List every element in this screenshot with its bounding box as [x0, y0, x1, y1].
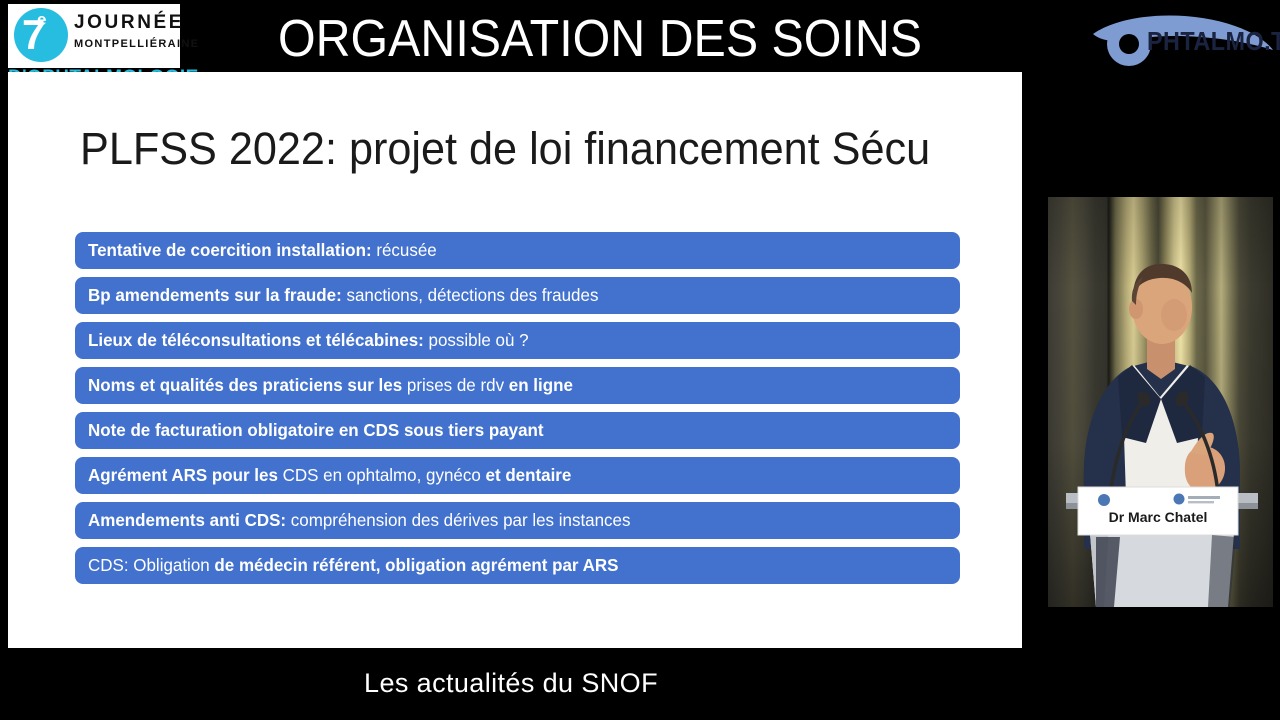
slide-bullet-segment: Amendements anti CDS: — [88, 510, 286, 530]
slide-bullet-bar: Bp amendements sur la fraude: sanctions,… — [75, 277, 960, 314]
header-title: ORGANISATION DES SOINS — [275, 8, 926, 70]
speaker-figure: Dr Marc Chatel — [1048, 197, 1273, 607]
slide-bullet-bar: Agrément ARS pour les CDS en ophtalmo, g… — [75, 457, 960, 494]
presentation-slide: PLFSS 2022: projet de loi financement Sé… — [8, 72, 1022, 648]
slide-bullet-text: CDS: Obligation de médecin référent, obl… — [88, 557, 618, 575]
slide-bullet-segment: en ligne — [509, 375, 573, 395]
slide-bullet-segment: Agrément ARS pour les — [88, 465, 278, 485]
speaker-video-panel[interactable]: Dr Marc Chatel — [1048, 197, 1273, 607]
slide-bullet-text: Lieux de téléconsultations et télécabine… — [88, 332, 529, 350]
slide-bullet-bar: Tentative de coercition installation: ré… — [75, 232, 960, 269]
slide-bullet-text: Bp amendements sur la fraude: sanctions,… — [88, 287, 598, 305]
slide-bullet-segment: CDS: Obligation — [88, 555, 214, 575]
ophtalmo-tv-logo: PHTALMO.TV — [1085, 8, 1275, 70]
slide-bullet-segment: Lieux de téléconsultations et télécabine… — [88, 330, 424, 350]
slide-bullet-segment: récusée — [372, 240, 437, 260]
slide-bullet-text: Agrément ARS pour les CDS en ophtalmo, g… — [88, 467, 571, 485]
slide-bullet-segment: prises de rdv — [402, 375, 509, 395]
speaker-nameplate: Dr Marc Chatel — [1109, 509, 1208, 525]
slide-bullet-segment: possible où ? — [424, 330, 529, 350]
bottom-caption: Les actualités du SNOF — [0, 660, 1022, 706]
slide-bullet-text: Note de facturation obligatoire en CDS s… — [88, 422, 544, 440]
logo-line-journee: JOURNÉE — [74, 13, 184, 32]
logo-ordinal-suffix: e — [37, 11, 46, 28]
slide-bullet-segment: Noms et qualités des praticiens sur les — [88, 375, 402, 395]
slide-bullet-bar: CDS: Obligation de médecin référent, obl… — [75, 547, 960, 584]
slide-bullet-text: Noms et qualités des praticiens sur les … — [88, 377, 573, 395]
slide-bullet-segment: CDS en ophtalmo, gynéco — [278, 465, 486, 485]
slide-bullet-segment: de médecin référent, obligation agrément… — [214, 555, 618, 575]
slide-bullet-segment: Tentative de coercition installation: — [88, 240, 372, 260]
slide-bullet-segment: Bp amendements sur la fraude: — [88, 285, 342, 305]
slide-bullet-bar: Note de facturation obligatoire en CDS s… — [75, 412, 960, 449]
slide-bullet-segment: Note de facturation obligatoire en CDS s… — [88, 420, 544, 440]
logo-line-montpellieraine: MONTPELLIÉRAINE — [74, 39, 199, 50]
video-player-stage: 7 e JOURNÉE MONTPELLIÉRAINE D'OPHTALMOLO… — [0, 0, 1280, 720]
slide-bullet-segment: sanctions, détections des fraudes — [342, 285, 599, 305]
slide-bullet-bar: Lieux de téléconsultations et télécabine… — [75, 322, 960, 359]
slide-bullet-text: Tentative de coercition installation: ré… — [88, 242, 437, 260]
slide-bullet-bar: Amendements anti CDS: compréhension des … — [75, 502, 960, 539]
slide-bullet-list: Tentative de coercition installation: ré… — [75, 232, 960, 592]
ophtalmo-tv-logo-text: PHTALMO.TV — [1147, 28, 1280, 54]
slide-bullet-text: Amendements anti CDS: compréhension des … — [88, 512, 630, 530]
slide-title: PLFSS 2022: projet de loi financement Sé… — [80, 124, 930, 174]
slide-bullet-bar: Noms et qualités des praticiens sur les … — [75, 367, 960, 404]
slide-bullet-segment: et dentaire — [486, 465, 572, 485]
slide-bullet-segment: compréhension des dérives par les instan… — [286, 510, 630, 530]
